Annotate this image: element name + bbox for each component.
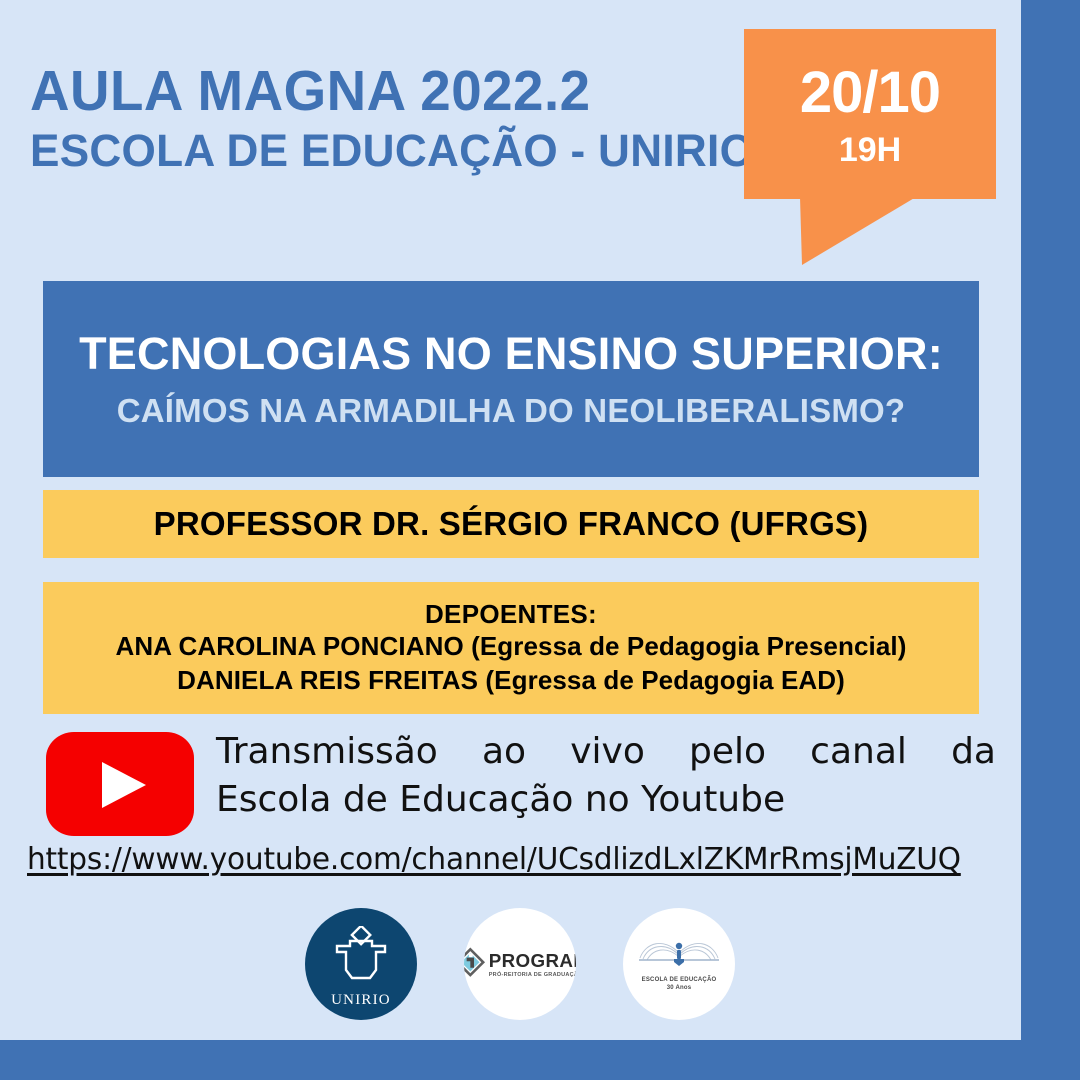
speaker-name: PROFESSOR DR. SÉRGIO FRANCO (UFRGS) [154,505,869,543]
bottom-edge-band [0,1040,1080,1080]
prograd-subtitle: PRÓ-REITORIA DE GRADUAÇÃO [489,971,576,977]
witness-item: ANA CAROLINA PONCIANO (Egressa de Pedago… [116,630,907,664]
lecture-title-block: TECNOLOGIAS NO ENSINO SUPERIOR: CAÍMOS N… [43,281,979,477]
prograd-wordmark: PROGRAD [489,951,576,969]
prograd-logo: PROGRAD PRÓ-REITORIA DE GRADUAÇÃO [464,908,576,1020]
escola-caption-line1: ESCOLA DE EDUCAÇÃO [642,977,717,985]
escola-caption: ESCOLA DE EDUCAÇÃO 30 Anos [642,977,717,992]
escola-caption-line2: 30 Anos [642,985,717,993]
right-edge-band [1021,0,1080,1080]
date-badge: 20/10 19H [744,29,996,263]
prograd-emblem-icon [464,946,486,982]
broadcast-text: Transmissão ao vivo pelo canal da Escola… [216,728,996,823]
lecture-subtitle: CAÍMOS NA ARMADILHA DO NEOLIBERALISMO? [117,393,906,429]
witness-item: DANIELA REIS FREITAS (Egressa de Pedagog… [177,664,845,698]
lecture-title: TECNOLOGIAS NO ENSINO SUPERIOR: [79,329,943,379]
broadcast-line2: Escola de Educação no Youtube [216,776,996,824]
speech-bubble-tail-icon [800,197,916,265]
witness-band: DEPOENTES: ANA CAROLINA PONCIANO (Egress… [43,582,979,714]
youtube-icon[interactable] [46,732,194,836]
youtube-channel-link[interactable]: https://www.youtube.com/channel/UCsdlizd… [27,842,1012,877]
event-date: 20/10 [744,59,996,126]
event-title-line1: AULA MAGNA 2022.2 [30,62,702,120]
unirio-logo: UNIRIO [305,908,417,1020]
logo-strip: UNIRIO PROGRAD PRÓ-REITORIA DE GRADUAÇÃO [305,908,735,1020]
event-poster: AULA MAGNA 2022.2 ESCOLA DE EDUCAÇÃO - U… [0,0,1080,1080]
broadcast-line1: Transmissão ao vivo pelo canal da [216,728,996,776]
play-triangle-icon [102,762,146,808]
open-book-icon [636,932,722,975]
speaker-band: PROFESSOR DR. SÉRGIO FRANCO (UFRGS) [43,490,979,558]
event-title-line2: ESCOLA DE EDUCAÇÃO - UNIRIO [30,126,716,176]
event-time: 19H [744,131,996,170]
unirio-wordmark: UNIRIO [331,992,391,1009]
broadcast-row: Transmissão ao vivo pelo canal da Escola… [46,728,996,836]
escola-de-educacao-logo: ESCOLA DE EDUCAÇÃO 30 Anos [623,908,735,1020]
witness-heading: DEPOENTES: [425,598,597,631]
unirio-emblem-icon [330,926,392,991]
poster-header: AULA MAGNA 2022.2 ESCOLA DE EDUCAÇÃO - U… [30,62,730,177]
